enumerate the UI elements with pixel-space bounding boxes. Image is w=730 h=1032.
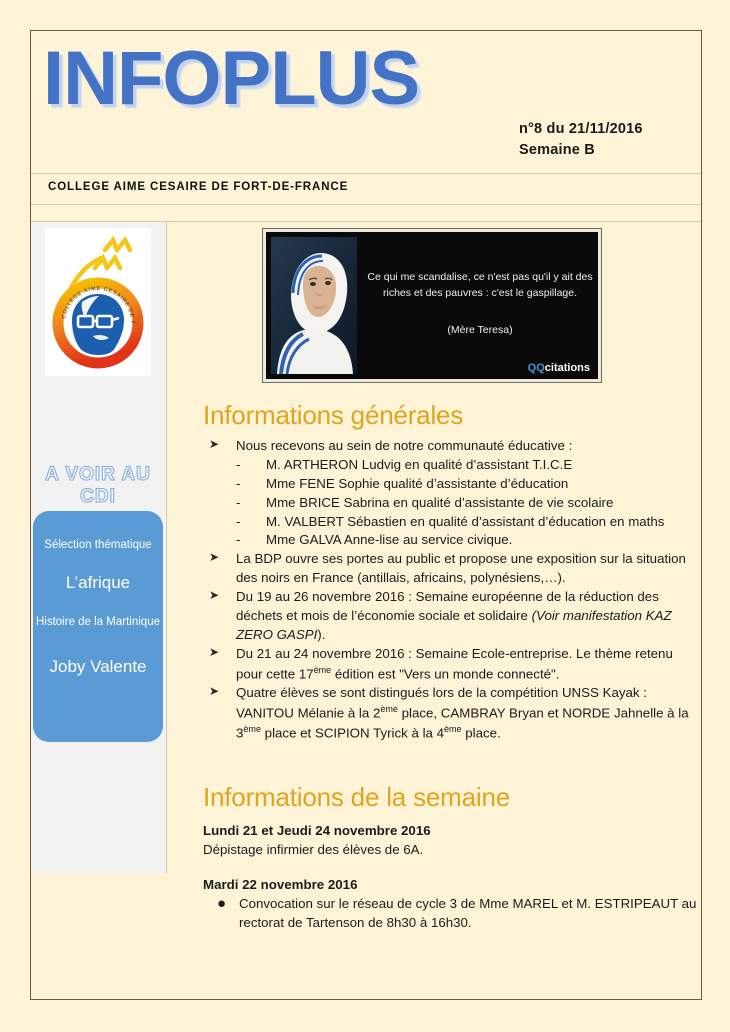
list-item-text-4: place. (462, 725, 501, 740)
dash-bullet-icon: - (236, 513, 240, 532)
day-title-lundi: Lundi 21 et Jeudi 24 novembre 2016 (203, 822, 700, 841)
dash-bullet-icon: - (236, 531, 240, 550)
divider-line-1 (31, 173, 701, 174)
sub-list-item: - Mme GALVA Anne-lise au service civique… (203, 531, 700, 550)
heading-informations-semaine: Informations de la semaine (203, 782, 510, 813)
list-item-text: La BDP ouvre ses portes au public et pro… (236, 551, 686, 585)
list-item-text: Nous recevons au sein de notre communaut… (236, 438, 572, 453)
sub-list-item: - M. ARTHERON Ludvig en qualité d’assist… (203, 456, 700, 475)
ordinal-suffix: ème (243, 724, 261, 734)
dash-bullet-icon: - (236, 494, 240, 513)
issue-info: n°8 du 21/11/2016 Semaine B (519, 119, 643, 161)
ordinal-suffix: ème (314, 665, 332, 675)
list-item-text: Convocation sur le réseau de cycle 3 de … (239, 896, 696, 930)
quote-author: (Mère Teresa) (366, 324, 594, 336)
arrow-bullet-icon: ➤ (209, 683, 219, 700)
sub-list-item: - Mme FENE Sophie qualité d’assistante d… (203, 475, 700, 494)
arrow-bullet-icon: ➤ (209, 587, 219, 604)
school-logo: COLLEGE AIME CESAIRE DE FORT-DE-FRANCE (45, 228, 151, 376)
sub-list-item-text: Mme FENE Sophie qualité d’assistante d’é… (266, 476, 568, 491)
list-item: ➤ Du 21 au 24 novembre 2016 : Semaine Ec… (203, 645, 700, 684)
dash-bullet-icon: - (236, 456, 240, 475)
general-info-list: ➤ Nous recevons au sein de notre communa… (203, 437, 700, 743)
school-name: COLLEGE AIME CESAIRE DE FORT-DE-FRANCE (48, 181, 348, 193)
sub-list-item-text: Mme BRICE Sabrina en qualité d’assistant… (266, 495, 613, 510)
mother-teresa-portrait (271, 237, 357, 374)
college-logo-icon: COLLEGE AIME CESAIRE DE FORT-DE-FRANCE (45, 228, 151, 376)
sub-list-item: - M. VALBERT Sébastien en qualité d’assi… (203, 513, 700, 532)
dash-bullet-icon: - (236, 475, 240, 494)
masthead: INFOPLUS n°8 du 21/11/2016 Semaine B (31, 31, 701, 173)
portrait-illustration (271, 237, 357, 374)
sidebar: COLLEGE AIME CESAIRE DE FORT-DE-FRANCE (31, 222, 167, 873)
quote-image-card: Ce qui me scandalise, ce n'est pas qu'il… (263, 229, 601, 382)
cdi-subtitle: Sélection thématique (33, 539, 163, 551)
sub-list-item: - Mme BRICE Sabrina en qualité d’assista… (203, 494, 700, 513)
sub-list-item-text: M. VALBERT Sébastien en qualité d’assist… (266, 514, 664, 529)
a-voir-au-cdi-banner: A VOIR AU CDI (28, 464, 168, 508)
issue-number-date: n°8 du 21/11/2016 (519, 119, 643, 140)
sub-list-item-text: Mme GALVA Anne-lise au service civique. (266, 532, 512, 547)
list-item: ➤ Du 19 au 26 novembre 2016 : Semaine eu… (203, 588, 700, 645)
list-item: ● Convocation sur le réseau de cycle 3 d… (203, 895, 700, 933)
list-item-text-tail: édition est "Vers un monde connecté". (331, 666, 559, 681)
issue-week: Semaine B (519, 140, 643, 161)
ordinal-suffix: ème (380, 704, 398, 714)
list-item-text-3: place et SCIPION Tyrick à la 4 (261, 725, 444, 740)
ordinal-suffix: ème (444, 724, 462, 734)
list-item: ➤ Quatre élèves se sont distingués lors … (203, 684, 700, 743)
cdi-item-afrique[interactable]: L’afrique (33, 573, 163, 593)
arrow-bullet-icon: ➤ (209, 549, 219, 566)
cdi-selection-box: Sélection thématique L’afrique Histoire … (33, 511, 163, 742)
quote-text: Ce qui me scandalise, ce n'est pas qu'il… (366, 270, 594, 302)
week-info-block: Lundi 21 et Jeudi 24 novembre 2016 Dépis… (203, 822, 700, 932)
day-text-lundi: Dépistage infirmier des élèves de 6A. (203, 841, 700, 860)
cdi-item-joby-valente[interactable]: Joby Valente (33, 657, 163, 677)
day-title-mardi: Mardi 22 novembre 2016 (203, 876, 700, 895)
page-frame: INFOPLUS n°8 du 21/11/2016 Semaine B COL… (30, 30, 702, 1000)
arrow-bullet-icon: ➤ (209, 436, 219, 453)
list-item: ➤ La BDP ouvre ses portes au public et p… (203, 550, 700, 588)
sub-list-item-text: M. ARTHERON Ludvig en qualité d’assistan… (266, 457, 572, 472)
arrow-bullet-icon: ➤ (209, 644, 219, 661)
block-spacer (203, 860, 700, 876)
divider-line-2 (31, 204, 701, 205)
cdi-item-histoire-martinique[interactable]: Histoire de la Martinique (33, 615, 163, 631)
qqcitations-watermark: QQcitations (528, 362, 590, 374)
list-item: ➤ Nous recevons au sein de notre communa… (203, 437, 700, 456)
newsletter-title: INFOPLUS (43, 41, 419, 117)
dot-bullet-icon: ● (217, 893, 226, 914)
qq-suffix: citations (545, 362, 590, 374)
heading-informations-generales: Informations générales (203, 400, 463, 431)
qq-prefix: QQ (528, 362, 545, 374)
list-item-text-tail: ). (317, 627, 325, 642)
sub-list: - M. ARTHERON Ludvig en qualité d’assist… (203, 456, 700, 550)
